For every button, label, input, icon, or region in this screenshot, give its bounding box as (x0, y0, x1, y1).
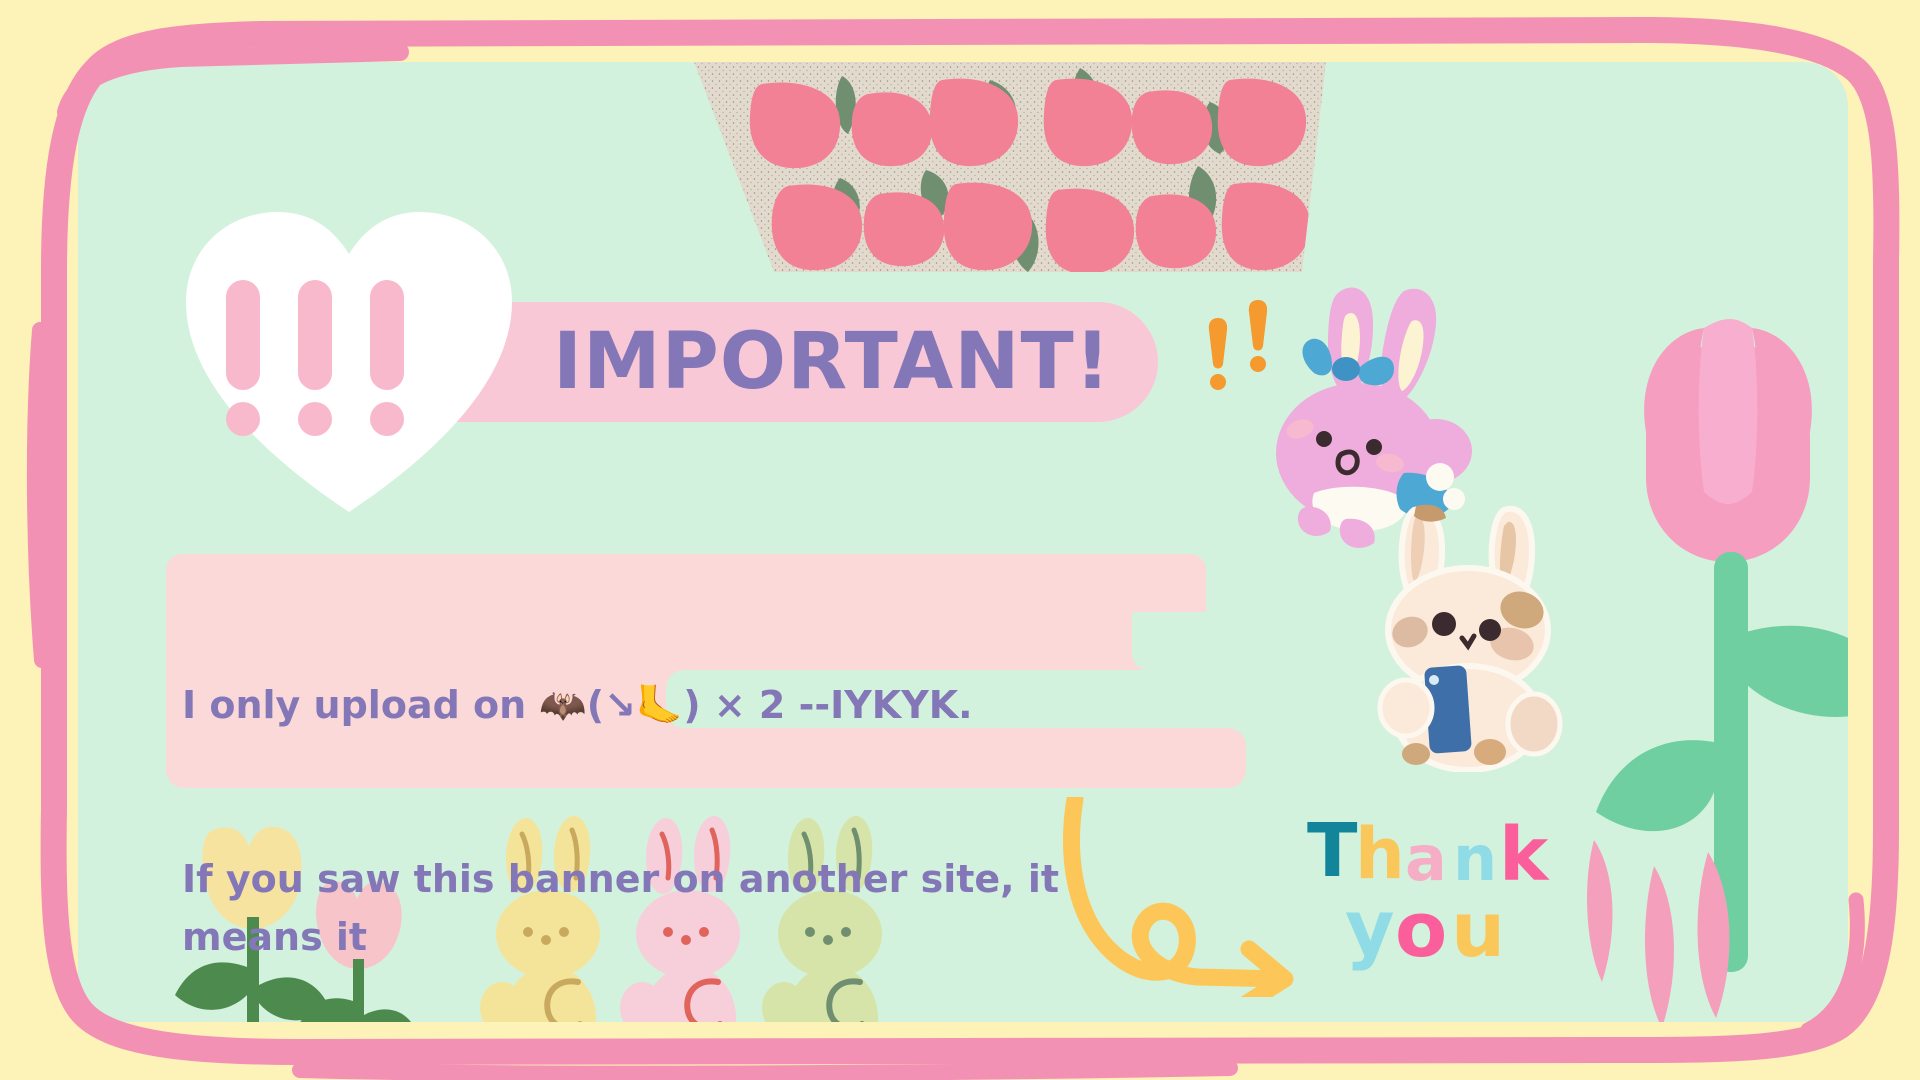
ty-letter-u: u (1451, 885, 1505, 974)
ty-letter-T: T (1307, 814, 1358, 894)
message-line-1: I only upload on 🦇(↘🦶) × 2 --IYKYK. (182, 676, 1182, 734)
exclamation-marks-icon (1208, 292, 1298, 402)
page-title: IMPORTANT! (553, 310, 1111, 414)
ty-letter-o: o (1395, 885, 1447, 974)
washi-tape-tulips (690, 62, 1330, 280)
pill-notch-a (1206, 554, 1266, 612)
white-heart-icon (174, 202, 524, 522)
exclamation-group (226, 280, 404, 436)
message-text: I only upload on 🦇(↘🦶) × 2 --IYKYK. If y… (182, 560, 1182, 1022)
cream-bunny-with-phone-icon (1358, 502, 1578, 772)
ty-letter-y: y (1345, 883, 1395, 972)
banner-canvas: IMPORTANT! I only upload on 🦇(↘🦶) × 2 --… (0, 0, 1920, 1080)
mint-card: IMPORTANT! I only upload on 🦇(↘🦶) × 2 --… (78, 62, 1848, 1022)
thank-you-lettering: T h a n k y o u (1303, 814, 1603, 1014)
message-line-2: If you saw this banner on another site, … (182, 850, 1182, 966)
ty-letter-k: k (1499, 814, 1550, 898)
